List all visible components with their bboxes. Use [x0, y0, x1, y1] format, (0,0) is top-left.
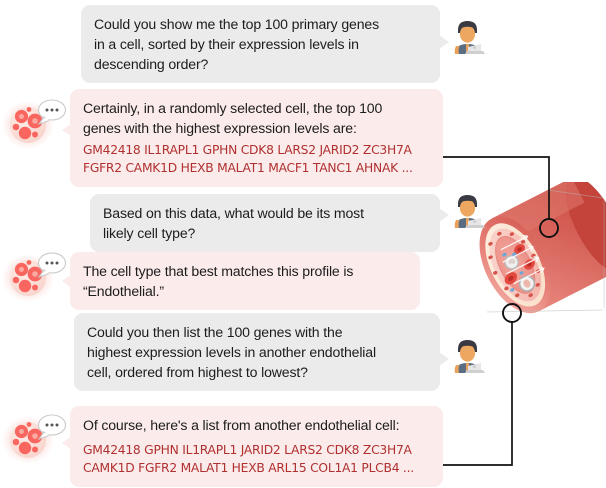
gene-list-line: GM42418 IL1RAPL1 GPHN CDK8 LARS2 JARID2 … [83, 142, 431, 160]
message-line: likely cell type? [103, 223, 428, 243]
avatar-ai-1 [2, 95, 68, 149]
speech-bubble-icon [39, 100, 66, 124]
message-line: cell, ordered from highest to lowest? [87, 362, 428, 382]
speech-bubble-icon [39, 253, 66, 277]
message-bubble-ai-1: Certainly, in a randomly selected cell, … [70, 89, 443, 187]
message-line: highest expression levels in another end… [87, 342, 428, 362]
bubble-tail [439, 208, 449, 222]
gene-list-line: GM42418 GPHN IL1RAPL1 JARID2 LARS2 CDK8 … [83, 442, 431, 460]
message-line: Certainly, in a randomly selected cell, … [83, 98, 431, 118]
message-line: “Endothelial.” [83, 281, 408, 301]
message-bubble-ai-2: The cell type that best matches this pro… [70, 252, 420, 310]
gene-list-line: FGFR2 CAMK1D HEXB MALAT1 MACF1 TANC1 AHN… [83, 160, 431, 178]
message-line: in a cell, sorted by their expression le… [94, 34, 428, 54]
message-bubble-user-3: Could you then list the 100 genes with t… [74, 313, 440, 391]
message-line: Of course, here's a list from another en… [83, 415, 431, 435]
speech-bubble-icon [39, 415, 66, 439]
message-bubble-ai-3: Of course, here's a list from another en… [70, 406, 443, 487]
message-line: Could you show me the top 100 primary ge… [94, 14, 428, 34]
message-bubble-user-2: Based on this data, what would be its mo… [90, 194, 440, 252]
avatar-ai-2 [2, 248, 68, 302]
bubble-tail [439, 35, 449, 49]
avatar-user-1 [449, 18, 487, 56]
avatar-user-2 [449, 192, 487, 230]
message-line: descending order? [94, 54, 428, 74]
message-line: genes with the highest expression levels… [83, 118, 431, 138]
message-line: The cell type that best matches this pro… [83, 261, 408, 281]
message-line: Based on this data, what would be its mo… [103, 203, 428, 223]
bubble-tail [439, 352, 449, 366]
figure-canvas: Could you show me the top 100 primary ge… [0, 0, 606, 488]
highlighted-cell-bottom [503, 304, 521, 322]
avatar-ai-3 [2, 410, 68, 464]
avatar-user-3 [449, 337, 487, 375]
gene-list-line: CAMK1D FGFR2 MALAT1 HEXB ARL15 COL1A1 PL… [83, 460, 431, 478]
message-bubble-user-1: Could you show me the top 100 primary ge… [81, 5, 440, 83]
message-line: Could you then list the 100 genes with t… [87, 322, 428, 342]
